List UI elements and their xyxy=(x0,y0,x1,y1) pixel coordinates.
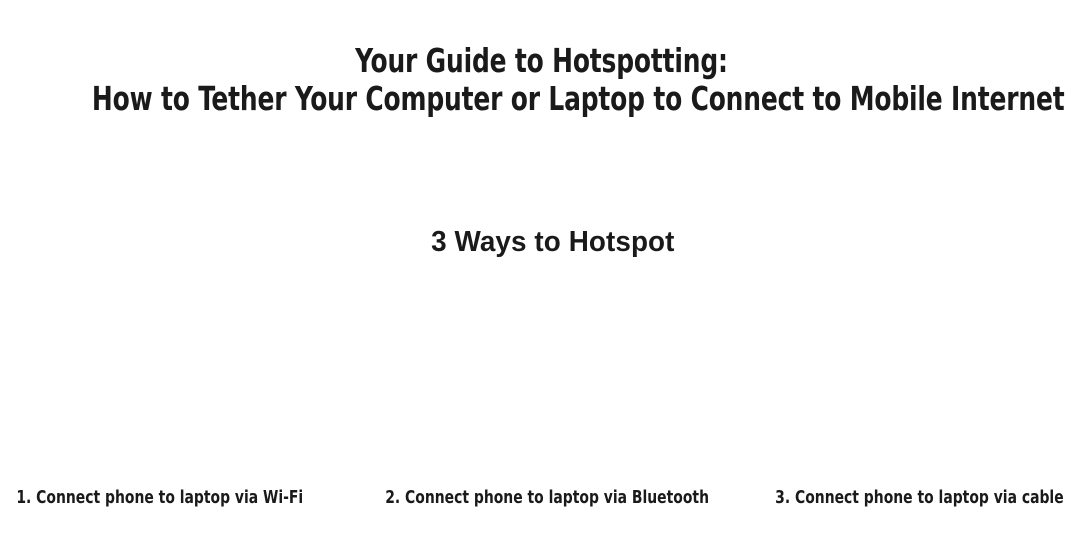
step-figure-wifi xyxy=(0,286,360,482)
section-heading: 3 Ways to Hotspot xyxy=(431,224,674,260)
step-caption-wifi: 1. Connect phone to laptop via Wi-Fi xyxy=(0,486,310,510)
article-page: Your Guide to Hotspotting: How to Tether… xyxy=(0,0,1080,552)
steps-illustration-row xyxy=(0,286,1080,482)
step-image-cable xyxy=(720,286,1080,482)
step-figure-cable xyxy=(720,286,1080,482)
page-title: Your Guide to Hotspotting: How to Tether… xyxy=(0,42,1080,118)
step-image-wifi xyxy=(0,286,360,482)
steps-caption-row: 1. Connect phone to laptop via Wi-Fi 2. … xyxy=(0,486,1080,512)
step-caption-bluetooth: 2. Connect phone to laptop via Bluetooth xyxy=(385,486,695,510)
step-caption-cable: 3. Connect phone to laptop via cable xyxy=(770,486,1080,510)
page-title-line-2: How to Tether Your Computer or Laptop to… xyxy=(92,80,994,118)
section-heading-container: 3 Ways to Hotspot xyxy=(0,224,1080,260)
step-figure-bluetooth xyxy=(360,286,720,482)
step-image-bluetooth xyxy=(360,286,720,482)
page-title-line-1: Your Guide to Hotspotting: xyxy=(89,42,994,80)
